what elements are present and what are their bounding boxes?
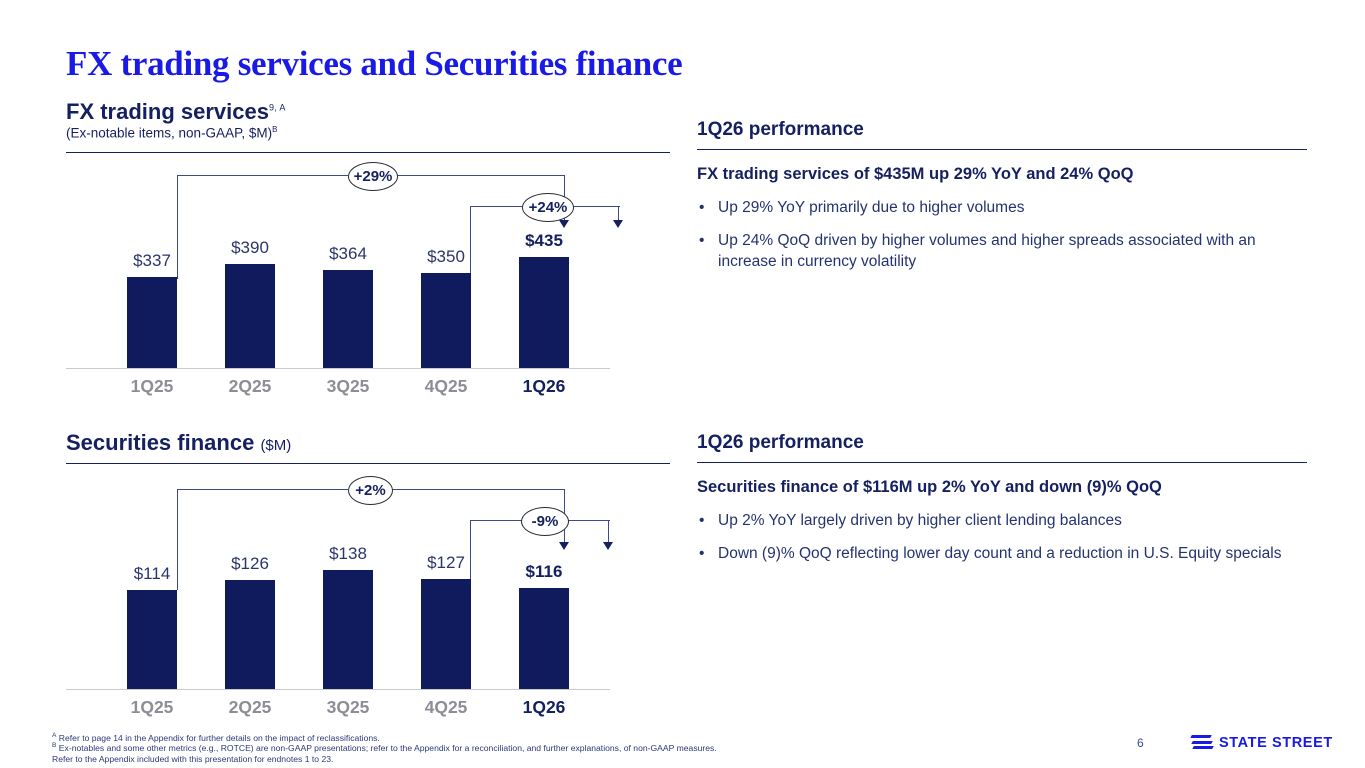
bar-4q25 xyxy=(421,273,471,368)
qoq-connector-top-left xyxy=(470,520,522,521)
section-1-performance-title: 1Q26 performance xyxy=(697,119,864,141)
section-2-bullet-list: • Up 2% YoY largely driven by higher cli… xyxy=(699,511,1299,578)
footnote-b-marker: B xyxy=(52,742,56,749)
state-street-logo: STATE STREET xyxy=(1191,734,1333,751)
section-2-heading-block: Securities finance ($M) xyxy=(66,431,291,454)
footnote-endnotes: Refer to the Appendix included with this… xyxy=(52,753,952,765)
bullet-dot-icon: • xyxy=(699,198,718,218)
bar-value-label: $114 xyxy=(112,564,192,584)
section-2-rule xyxy=(66,463,670,464)
section-1-bullet-list: • Up 29% YoY primarily due to higher vol… xyxy=(699,198,1299,285)
x-axis-label-1q26: 1Q26 xyxy=(504,697,584,718)
bar-value-label: $126 xyxy=(210,554,290,574)
state-street-logo-text: STATE STREET xyxy=(1219,735,1333,751)
qoq-change-badge: -9% xyxy=(521,507,569,536)
bar-value-label-highlight: $435 xyxy=(504,231,584,251)
slide-root: FX trading services and Securities finan… xyxy=(0,0,1365,768)
x-axis-line xyxy=(66,368,610,369)
bar-value-label: $390 xyxy=(210,238,290,258)
x-axis-line xyxy=(66,689,610,690)
bar-value-label: $138 xyxy=(308,544,388,564)
x-axis-label-3q25: 3Q25 xyxy=(308,376,388,397)
bullet-dot-icon: • xyxy=(699,511,718,531)
list-item: • Up 24% QoQ driven by higher volumes an… xyxy=(699,231,1299,272)
yoy-connector-top-left xyxy=(177,489,348,490)
section-2-heading: Securities finance ($M) xyxy=(66,431,291,454)
section-2-subheading: ($M) xyxy=(260,437,291,454)
qoq-connector-left-stem xyxy=(470,206,471,279)
bullet-dot-icon: • xyxy=(699,231,718,272)
bar-3q25 xyxy=(323,270,373,368)
qoq-connector-top-left xyxy=(470,206,522,207)
section-2-performance-title: 1Q26 performance xyxy=(697,432,864,454)
x-axis-label-4q25: 4Q25 xyxy=(406,697,486,718)
bar-value-label-highlight: $116 xyxy=(504,562,584,582)
section-1-subheading: (Ex-notable items, non-GAAP, $M)B xyxy=(66,125,286,141)
x-axis-label-2q25: 2Q25 xyxy=(210,697,290,718)
yoy-arrow-icon xyxy=(559,220,569,228)
bullet-text: Up 24% QoQ driven by higher volumes and … xyxy=(718,231,1299,272)
bullet-text: Up 2% YoY largely driven by higher clien… xyxy=(718,511,1299,531)
bar-1q25 xyxy=(127,590,177,689)
page-number: 6 xyxy=(1137,736,1144,750)
x-axis-label-1q25: 1Q25 xyxy=(112,697,192,718)
footnote-endnotes-text: Refer to the Appendix included with this… xyxy=(52,754,333,764)
yoy-connector-top-left xyxy=(177,175,348,176)
list-item: • Up 29% YoY primarily due to higher vol… xyxy=(699,198,1299,218)
yoy-connector-top-right xyxy=(390,489,565,490)
x-axis-label-1q25: 1Q25 xyxy=(112,376,192,397)
x-axis-label-1q26: 1Q26 xyxy=(504,376,584,397)
qoq-arrow-icon xyxy=(603,542,613,550)
bar-1q25 xyxy=(127,277,177,368)
section-1-performance-rule xyxy=(697,149,1307,150)
section-2-performance-rule xyxy=(697,462,1307,463)
qoq-arrow-icon xyxy=(613,220,623,228)
bar-1q26 xyxy=(519,257,569,368)
yoy-change-badge: +29% xyxy=(348,162,398,191)
bullet-text: Down (9)% QoQ reflecting lower day count… xyxy=(718,544,1299,564)
x-axis-label-2q25: 2Q25 xyxy=(210,376,290,397)
section-1-heading: FX trading services9, A xyxy=(66,100,286,123)
bar-3q25 xyxy=(323,570,373,689)
yoy-connector-top-right xyxy=(396,175,565,176)
footnote-a-marker: A xyxy=(52,732,56,739)
qoq-connector-right-stem xyxy=(608,520,609,542)
bar-2q25 xyxy=(225,580,275,689)
qoq-change-badge: +24% xyxy=(522,193,574,222)
bullet-text: Up 29% YoY primarily due to higher volum… xyxy=(718,198,1299,218)
qoq-connector-top-right xyxy=(571,206,620,207)
section-1-rule xyxy=(66,152,670,153)
qoq-connector-top-right xyxy=(566,520,610,521)
state-street-logo-icon xyxy=(1191,734,1213,751)
bullet-dot-icon: • xyxy=(699,544,718,564)
bar-4q25 xyxy=(421,579,471,689)
footnote-b-text: Ex-notables and some other metrics (e.g.… xyxy=(59,743,717,753)
section-1-performance-summary: FX trading services of $435M up 29% YoY … xyxy=(697,165,1134,184)
list-item: • Up 2% YoY largely driven by higher cli… xyxy=(699,511,1299,531)
list-item: • Down (9)% QoQ reflecting lower day cou… xyxy=(699,544,1299,564)
section-1-heading-block: FX trading services9, A (Ex-notable item… xyxy=(66,100,286,141)
bar-value-label: $350 xyxy=(406,247,486,267)
securities-finance-chart: +2% -9% $114 $126 $138 $127 $116 1Q25 2Q… xyxy=(66,472,670,722)
yoy-change-badge: +2% xyxy=(348,476,393,505)
section-2-performance-summary: Securities finance of $116M up 2% YoY an… xyxy=(697,478,1162,497)
page-title: FX trading services and Securities finan… xyxy=(66,44,682,84)
bar-value-label: $337 xyxy=(112,251,192,271)
bar-value-label: $364 xyxy=(308,244,388,264)
bar-1q26 xyxy=(519,588,569,689)
section-1-subheading-sup: B xyxy=(272,125,277,134)
fx-trading-services-chart: +29% +24% $337 $390 $364 $350 $435 1Q25 … xyxy=(66,160,670,410)
bar-2q25 xyxy=(225,264,275,368)
section-1-heading-sup: 9, A xyxy=(269,103,286,113)
x-axis-label-3q25: 3Q25 xyxy=(308,697,388,718)
bar-value-label: $127 xyxy=(406,553,486,573)
x-axis-label-4q25: 4Q25 xyxy=(406,376,486,397)
yoy-arrow-icon xyxy=(559,542,569,550)
